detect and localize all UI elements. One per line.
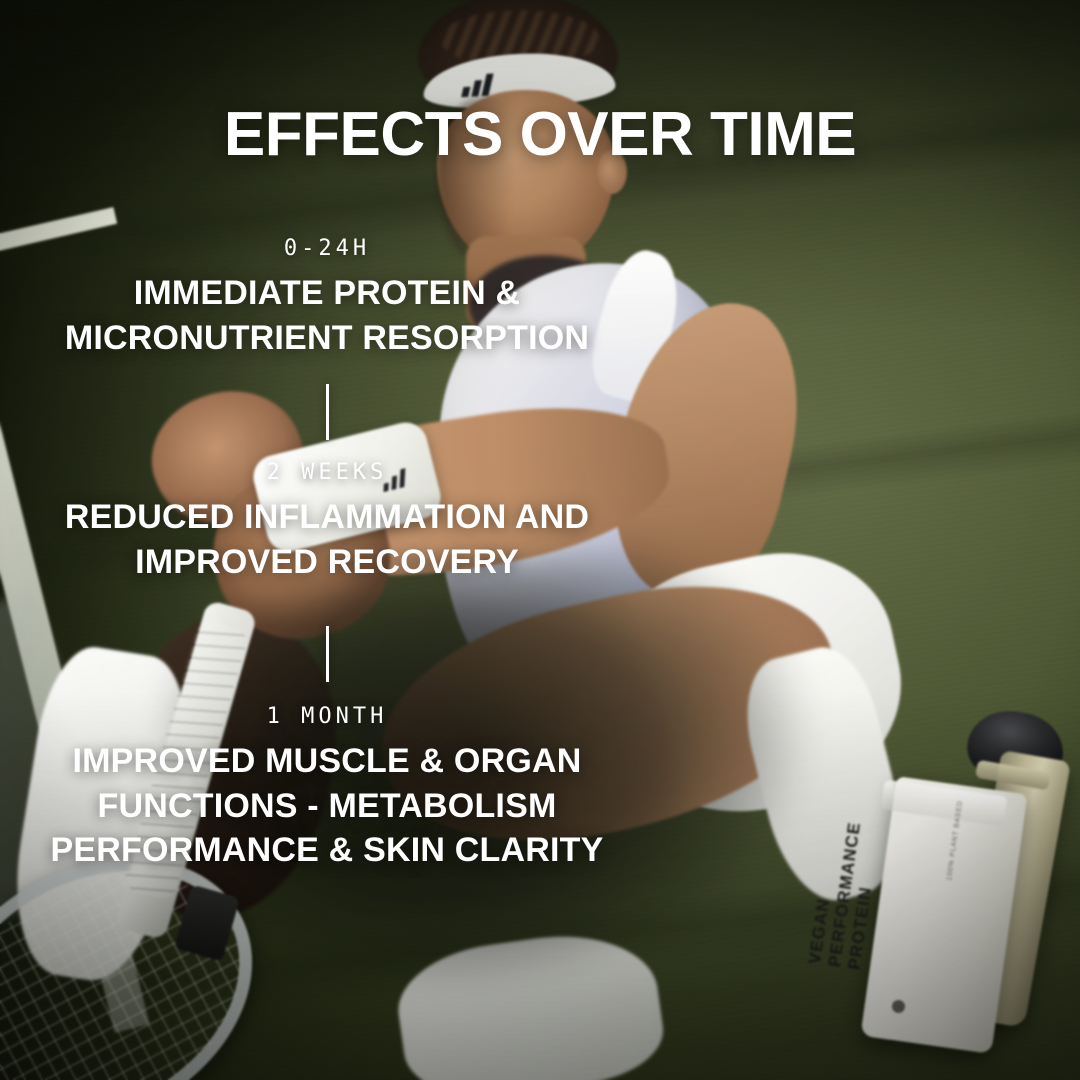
- timeline-stage-1-month: 1 MONTH IMPROVED MUSCLE & ORGAN FUNCTION…: [0, 706, 654, 873]
- text-overlay: EFFECTS OVER TIME 0-24H IMMEDIATE PROTEI…: [0, 0, 1080, 1080]
- infographic-canvas: VEGANPERFORMANCEPROTEIN 100% PLANT BASED…: [0, 0, 1080, 1080]
- timeline-divider: [326, 384, 329, 440]
- stage-time-label: 1 MONTH: [0, 706, 654, 728]
- stage-description: IMPROVED MUSCLE & ORGAN FUNCTIONS - META…: [0, 739, 654, 873]
- timeline-divider: [326, 626, 329, 682]
- timeline-stage-0-24h: 0-24H IMMEDIATE PROTEIN & MICRONUTRIENT …: [0, 238, 654, 360]
- page-title: EFFECTS OVER TIME: [0, 104, 1080, 166]
- stage-time-label: 0-24H: [0, 238, 654, 260]
- stage-description: REDUCED INFLAMMATION AND IMPROVED RECOVE…: [0, 495, 654, 584]
- stage-description: IMMEDIATE PROTEIN & MICRONUTRIENT RESORP…: [0, 271, 654, 360]
- stage-time-label: 2 WEEKS: [0, 462, 654, 484]
- effects-timeline: 0-24H IMMEDIATE PROTEIN & MICRONUTRIENT …: [0, 238, 654, 873]
- timeline-stage-2-weeks: 2 WEEKS REDUCED INFLAMMATION AND IMPROVE…: [0, 462, 654, 584]
